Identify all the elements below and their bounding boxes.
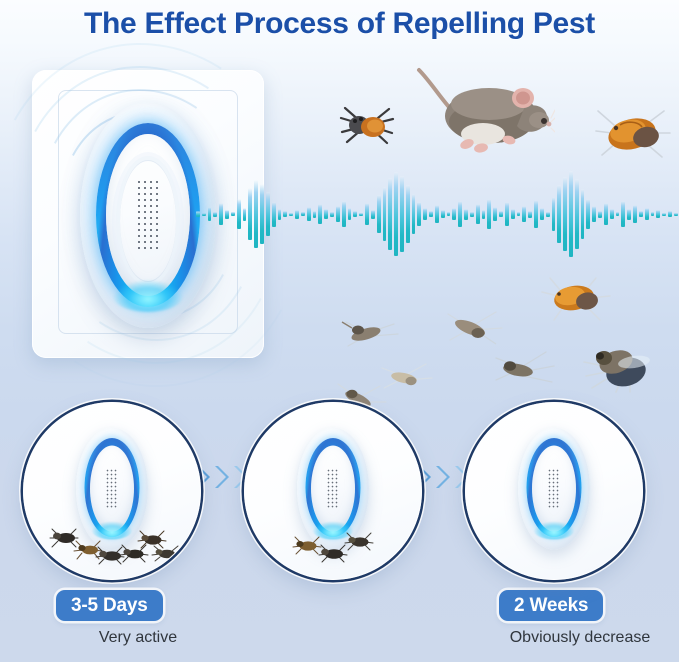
stage-2-bugs bbox=[245, 521, 421, 565]
waveform-bar bbox=[301, 212, 305, 216]
waveform-bar bbox=[487, 199, 491, 229]
waveform-bar bbox=[353, 211, 357, 217]
waveform-bar bbox=[260, 184, 264, 244]
waveform-bar bbox=[336, 206, 340, 222]
waveform-bar bbox=[324, 209, 328, 219]
waveform-bar bbox=[639, 211, 643, 217]
waveform-bar bbox=[237, 199, 241, 229]
waveform-bar bbox=[342, 201, 346, 227]
waveform-bar bbox=[423, 208, 427, 220]
stage-1: 3-5 Days Very active bbox=[20, 398, 216, 586]
waveform-bar bbox=[616, 212, 620, 216]
waveform-bar bbox=[458, 201, 462, 227]
mosquito-icon bbox=[440, 306, 512, 352]
page-title: The Effect Process of Repelling Pest bbox=[84, 7, 595, 41]
waveform-bar bbox=[633, 205, 637, 223]
led-indicator-glow bbox=[113, 280, 183, 312]
bug-icon bbox=[96, 547, 124, 564]
waveform-bar bbox=[476, 204, 480, 224]
waveform-bar bbox=[598, 211, 602, 218]
waveform-bar bbox=[528, 211, 532, 218]
stage-3: 3-4 Week Basically disappeared bbox=[462, 398, 658, 586]
waveform-bar bbox=[557, 185, 561, 243]
bug-icon bbox=[345, 533, 373, 550]
waveform-bar bbox=[517, 212, 521, 216]
waveform-bar bbox=[452, 208, 456, 220]
bug-icon bbox=[120, 545, 148, 562]
waveform-bar bbox=[563, 177, 567, 251]
pest-repeller-infographic: The Effect Process of Repelling Pest bbox=[0, 0, 679, 662]
waveform-bar bbox=[668, 211, 672, 217]
stage-1-badge: 3-5 Days bbox=[56, 590, 163, 621]
bug-icon bbox=[138, 531, 166, 548]
waveform-bar bbox=[417, 202, 421, 226]
waveform-bar bbox=[412, 194, 416, 234]
waveform-bar bbox=[254, 180, 258, 248]
stage-2-badge: 2 Weeks bbox=[499, 590, 603, 621]
stage-3-bugs bbox=[466, 521, 642, 565]
waveform-bar bbox=[278, 209, 282, 220]
waveform-bar bbox=[377, 195, 381, 233]
audio-waveform bbox=[196, 166, 679, 262]
speaker-grille bbox=[135, 178, 161, 252]
stage-1-badge-label: 3-5 Days bbox=[71, 595, 148, 617]
waveform-bar bbox=[272, 202, 276, 227]
waveform-bar bbox=[208, 207, 212, 221]
waveform-bar bbox=[552, 197, 556, 231]
waveform-bar bbox=[482, 210, 486, 219]
waveform-bar bbox=[674, 213, 678, 216]
waveform-bar bbox=[231, 212, 235, 216]
waveform-bar bbox=[586, 199, 590, 229]
waveform-bar bbox=[266, 192, 270, 236]
waveform-bar bbox=[662, 213, 666, 216]
waveform-bar bbox=[429, 211, 433, 217]
stage-1-bugs bbox=[24, 521, 200, 565]
bug-icon bbox=[50, 529, 78, 547]
stage-2-circle bbox=[244, 402, 422, 580]
stage-2-caption: Obviously decrease bbox=[482, 629, 678, 647]
waveform-bar bbox=[289, 213, 293, 216]
waveform-bar bbox=[365, 203, 369, 225]
waveform-bar bbox=[505, 202, 509, 226]
waveform-bar bbox=[383, 187, 387, 241]
stage-3-circle bbox=[465, 402, 643, 580]
rat-icon bbox=[405, 58, 555, 164]
waveform-bar bbox=[441, 210, 445, 218]
waveform-bar bbox=[511, 209, 515, 219]
waveform-bar bbox=[318, 204, 322, 224]
stage-2: 2 Weeks Obviously decrease bbox=[241, 398, 437, 586]
waveform-bar bbox=[604, 203, 608, 225]
effect-timeline: 3-5 Days Very active bbox=[0, 398, 679, 662]
waveform-bar bbox=[248, 188, 252, 240]
waveform-bar bbox=[394, 172, 398, 256]
bug-icon bbox=[152, 546, 180, 561]
waveform-bar bbox=[406, 185, 410, 243]
stage-1-caption: Very active bbox=[40, 629, 236, 647]
waveform-bar bbox=[627, 209, 631, 220]
waveform-bar bbox=[447, 212, 451, 216]
bug-icon bbox=[319, 545, 347, 562]
waveform-bar bbox=[499, 211, 503, 217]
waveform-bar bbox=[359, 213, 363, 216]
mini-speaker-grille bbox=[327, 469, 340, 509]
waveform-bar bbox=[313, 211, 317, 218]
waveform-bar bbox=[592, 206, 596, 222]
spider-icon bbox=[335, 96, 397, 150]
waveform-bar bbox=[348, 208, 352, 220]
waveform-bar bbox=[307, 207, 311, 221]
waveform-bar bbox=[388, 178, 392, 250]
waveform-bar bbox=[202, 213, 206, 216]
waveform-bar bbox=[283, 211, 287, 217]
title-bar: The Effect Process of Repelling Pest bbox=[0, 0, 679, 48]
waveform-bar bbox=[645, 208, 649, 220]
mosquito-icon bbox=[340, 316, 404, 354]
waveform-bar bbox=[400, 176, 404, 252]
waveform-bar bbox=[546, 212, 550, 217]
waveform-bar bbox=[534, 200, 538, 228]
waveform-bar bbox=[464, 209, 468, 220]
waveform-bar bbox=[540, 208, 544, 220]
mosquito-icon bbox=[488, 348, 562, 394]
chevron-right-icon bbox=[436, 463, 454, 491]
waveform-bar bbox=[651, 212, 655, 216]
waveform-bar bbox=[219, 203, 223, 225]
bug-icon bbox=[293, 537, 321, 554]
waveform-bar bbox=[243, 208, 247, 221]
cockroach-icon bbox=[538, 276, 614, 324]
stage-1-circle bbox=[23, 402, 201, 580]
waveform-bar bbox=[435, 205, 439, 223]
mini-speaker-grille bbox=[106, 469, 119, 509]
waveform-bar bbox=[295, 210, 299, 219]
stage-2-badge-label: 2 Weeks bbox=[514, 595, 588, 617]
waveform-bar bbox=[470, 212, 474, 217]
waveform-bar bbox=[610, 209, 614, 219]
waveform-bar bbox=[621, 201, 625, 227]
cockroach-icon bbox=[594, 103, 674, 165]
waveform-bar bbox=[196, 211, 200, 217]
waveform-bar bbox=[581, 189, 585, 239]
waveform-bar bbox=[371, 210, 375, 219]
waveform-bar bbox=[569, 171, 573, 257]
waveform-bar bbox=[213, 212, 217, 217]
hero-scene bbox=[0, 48, 679, 398]
waveform-bar bbox=[656, 210, 660, 218]
housefly-icon bbox=[578, 338, 658, 394]
waveform-bar bbox=[493, 207, 497, 221]
chevron-right-icon bbox=[215, 463, 233, 491]
waveform-bar bbox=[225, 210, 229, 219]
waveform-bar bbox=[575, 179, 579, 249]
waveform-bar bbox=[330, 212, 334, 217]
mini-speaker-grille bbox=[548, 469, 561, 509]
waveform-bar bbox=[522, 206, 526, 222]
